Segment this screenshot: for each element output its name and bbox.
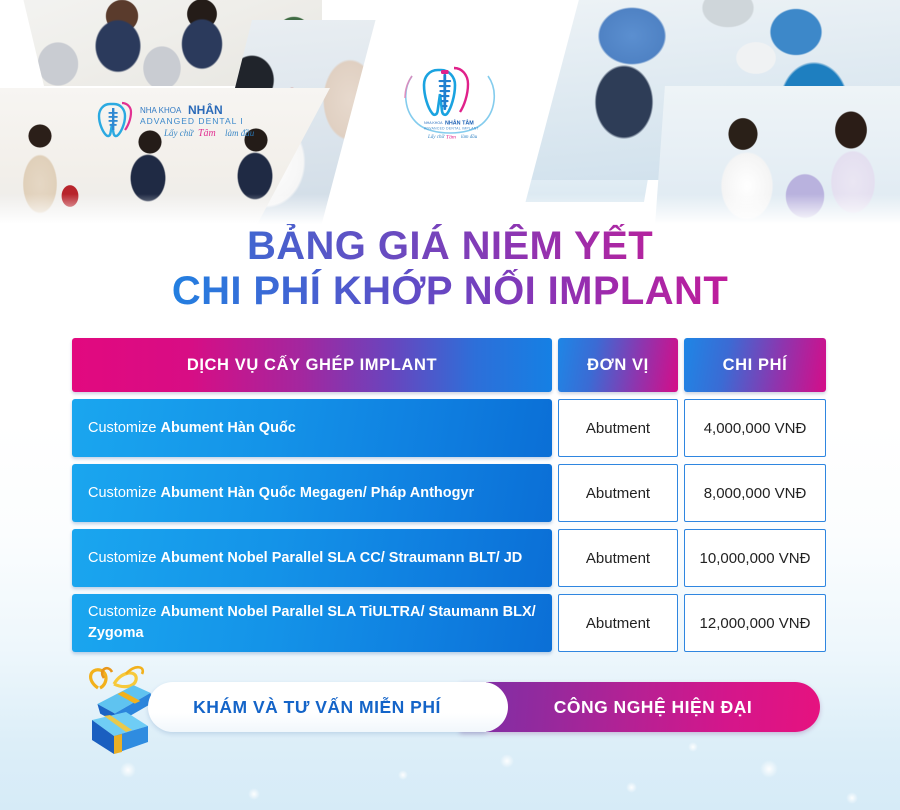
svg-text:NHA KHOA: NHA KHOA (424, 121, 443, 125)
page-title: BẢNG GIÁ NIÊM YẾT CHI PHÍ KHỚP NỐI IMPLA… (0, 224, 900, 314)
sparkle-icon (248, 788, 260, 800)
service-lead: Customize (88, 550, 161, 566)
svg-text:ADVANGED DENTAL I: ADVANGED DENTAL I (140, 116, 244, 126)
svg-text:Lấy chữ: Lấy chữ (427, 135, 445, 140)
cell-service: Customize Abument Hàn Quốc Megagen/ Pháp… (72, 464, 552, 522)
service-lead: Customize (88, 604, 161, 620)
sparkle-icon (760, 760, 778, 778)
cell-price: 12,000,000 VNĐ (684, 594, 826, 652)
svg-text:làm đầu: làm đầu (225, 128, 255, 138)
svg-text:Tâm: Tâm (198, 128, 216, 139)
svg-text:NHÂN: NHÂN (188, 102, 223, 117)
service-bold: Abument Nobel Parallel SLA CC/ Straumann… (161, 550, 523, 566)
svg-text:ADVANCED DENTAL IMPLANT: ADVANCED DENTAL IMPLANT (424, 126, 479, 130)
sparkle-icon (398, 770, 408, 780)
cell-price: 10,000,000 VNĐ (684, 529, 826, 587)
wall-logo-icon: NHA KHOA NHÂN ADVANGED DENTAL I Lấy chữ … (92, 96, 262, 144)
brand-logo: NHA KHOA NHÂN TÂM ADVANCED DENTAL IMPLAN… (398, 54, 502, 146)
svg-text:làm đầu: làm đầu (461, 135, 478, 140)
service-lead: Customize (88, 420, 161, 436)
table-row: Customize Abument Nobel Parallel SLA CC/… (72, 529, 826, 587)
sparkle-icon (500, 754, 514, 768)
cell-price: 4,000,000 VNĐ (684, 399, 826, 457)
free-consultation-pill[interactable]: KHÁM VÀ TƯ VẤN MIỄN PHÍ (148, 682, 486, 732)
cell-service: Customize Abument Nobel Parallel SLA CC/… (72, 529, 552, 587)
svg-text:Tâm: Tâm (446, 135, 456, 141)
page-title-line-1: BẢNG GIÁ NIÊM YẾT (0, 224, 900, 269)
service-bold: Abument Hàn Quốc (161, 420, 296, 436)
modern-technology-pill[interactable]: CÔNG NGHỆ HIỆN ĐẠI (460, 682, 820, 732)
service-lead: Customize (88, 485, 161, 501)
promo-banner: KHÁM VÀ TƯ VẤN MIỄN PHÍ CÔNG NGHỆ HIỆN Đ… (0, 666, 900, 750)
page-title-line-2: CHI PHÍ KHỚP NỐI IMPLANT (0, 269, 900, 314)
sparkle-icon (846, 792, 858, 804)
table-header-row: DỊCH VỤ CẤY GHÉP IMPLANT ĐƠN VỊ CHI PHÍ (72, 338, 826, 392)
hero-bottom-fade (0, 194, 900, 228)
table-row: Customize Abument Nobel Parallel SLA TiU… (72, 594, 826, 652)
header-price: CHI PHÍ (684, 338, 826, 392)
nha-khoa-nhan-tam-logo-icon: NHA KHOA NHÂN TÂM ADVANCED DENTAL IMPLAN… (398, 54, 502, 146)
svg-text:NHA KHOA: NHA KHOA (140, 106, 182, 115)
table-row: Customize Abument Hàn Quốc Megagen/ Pháp… (72, 464, 826, 522)
cell-unit: Abutment (558, 464, 678, 522)
service-bold: Abument Hàn Quốc Megagen/ Pháp Anthogyr (161, 485, 475, 501)
cell-unit: Abutment (558, 529, 678, 587)
header-service: DỊCH VỤ CẤY GHÉP IMPLANT (72, 338, 552, 392)
table-row: Customize Abument Hàn Quốc Abutment 4,00… (72, 399, 826, 457)
sparkle-icon (626, 782, 637, 793)
cell-service: Customize Abument Nobel Parallel SLA TiU… (72, 594, 552, 652)
price-table: DỊCH VỤ CẤY GHÉP IMPLANT ĐƠN VỊ CHI PHÍ … (72, 338, 826, 659)
sparkle-icon (120, 762, 136, 778)
svg-text:Lấy chữ: Lấy chữ (163, 128, 194, 138)
header-unit: ĐƠN VỊ (558, 338, 678, 392)
cell-unit: Abutment (558, 399, 678, 457)
promo-pill-group: KHÁM VÀ TƯ VẤN MIỄN PHÍ CÔNG NGHỆ HIỆN Đ… (148, 682, 820, 732)
cell-service: Customize Abument Hàn Quốc (72, 399, 552, 457)
cell-unit: Abutment (558, 594, 678, 652)
cell-price: 8,000,000 VNĐ (684, 464, 826, 522)
